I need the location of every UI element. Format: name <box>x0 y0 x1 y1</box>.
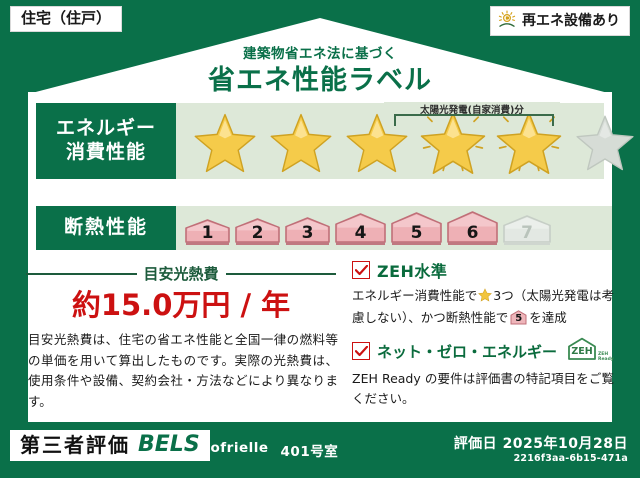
net-zero-energy-block: ネット・ゼロ・エネルギー ZEH ZEH Ready ZEH Ready の要件… <box>352 337 614 409</box>
insulation-performance-row: 断熱性能 1 2 3 <box>36 206 612 250</box>
cost-rule-right <box>226 273 337 275</box>
evaluation-date-value: 2025年10月28日 <box>503 436 628 452</box>
insulation-level-3: 3 <box>284 216 331 246</box>
check-icon <box>355 342 368 361</box>
insulation-level-2: 2 <box>234 217 281 246</box>
sun-icon <box>497 10 517 31</box>
insulation-level-4: 4 <box>334 212 387 246</box>
zeh-house-icon: ZEH <box>567 337 597 365</box>
evaluation-date-label: 評価日 <box>454 436 498 452</box>
energy-performance-key: エネルギー 消費性能 <box>36 103 176 179</box>
insulation-level-number: 2 <box>252 223 264 246</box>
zeh-standard-heading: ZEH水準 <box>352 258 614 282</box>
zeh-standard-text-part3: を達成 <box>529 310 567 325</box>
energy-key-line2: 消費性能 <box>66 141 146 165</box>
energy-key-line1: エネルギー <box>56 117 156 141</box>
insulation-key-label: 断熱性能 <box>64 216 148 240</box>
energy-performance-value: 太陽光発電(自家消費)分 <box>176 103 604 179</box>
evaluation-id: 2216f3aa-6b15-471a <box>514 453 628 464</box>
insulation-level-6: 6 <box>446 210 499 246</box>
insulation-level-number: 7 <box>521 223 533 246</box>
zeh-ready-sublabel: ZEH Ready <box>598 352 614 365</box>
zeh-standard-text: エネルギー消費性能で3つ（太陽光発電は考慮しない）、かつ断熱性能で5を達成 <box>352 286 614 328</box>
energy-star-2 <box>264 106 338 176</box>
third-party-eval-label: 第三者評価 <box>20 435 130 455</box>
building-identifier: Jofrielle 401号室 <box>205 440 338 460</box>
room-number: 401号室 <box>281 440 339 460</box>
utility-cost-heading: 目安光熱費 <box>26 263 336 284</box>
evaluation-date: 評価日 2025年10月28日 <box>454 433 628 453</box>
zeh-standard-block: ZEH水準 エネルギー消費性能で3つ（太陽光発電は考慮しない）、かつ断熱性能で5… <box>352 258 614 328</box>
energy-performance-label: 住宅（住戸） 再エネ設備あり 建築物省エネ法に基づく 省エネ性能ラベル <box>0 0 640 478</box>
zeh-ready-logo: ZEH ZEH Ready <box>567 337 614 365</box>
energy-star-1 <box>188 106 262 176</box>
insulation-level-number: 1 <box>202 223 214 246</box>
net-zero-checkbox[interactable] <box>352 342 370 360</box>
label-footer: 第三者評価 BELS Jofrielle 401号室 評価日 2025年10月2… <box>0 422 640 478</box>
insulation-level-number: 4 <box>355 223 367 246</box>
utility-cost-value: 約15.0万円 / 年 <box>26 282 336 324</box>
energy-performance-row: エネルギー 消費性能 太陽光発電(自家消費)分 <box>36 103 604 179</box>
utility-cost-note: 目安光熱費は、住宅の省エネ性能と全国一律の燃料等の単価を用いて算出したものです。… <box>28 330 338 413</box>
net-zero-title: ネット・ゼロ・エネルギー <box>377 341 557 362</box>
zeh-standard-title: ZEH水準 <box>377 258 447 282</box>
insulation-badge-inline: 5 <box>510 310 527 325</box>
insulation-performance-key: 断熱性能 <box>36 206 176 250</box>
renewable-equipment-badge: 再エネ設備あり <box>490 6 630 36</box>
cost-heading-label: 目安光熱費 <box>144 263 219 284</box>
energy-star-6 <box>568 106 640 176</box>
star-icon <box>478 288 492 308</box>
net-zero-heading: ネット・ゼロ・エネルギー ZEH ZEH Ready <box>352 337 614 365</box>
cost-rule-left <box>26 273 137 275</box>
zeh-column: ZEH水準 エネルギー消費性能で3つ（太陽光発電は考慮しない）、かつ断熱性能で5… <box>352 258 614 418</box>
insulation-performance-value: 1 2 3 4 5 <box>176 206 612 250</box>
insulation-level-scale: 1 2 3 4 5 <box>184 210 552 246</box>
bels-badge: 第三者評価 BELS <box>10 430 210 461</box>
insulation-level-1: 1 <box>184 218 231 246</box>
insulation-level-number: 6 <box>467 223 479 246</box>
zeh-standard-text-part1: エネルギー消費性能で <box>352 288 477 303</box>
renewable-badge-label: 再エネ設備あり <box>522 14 620 28</box>
zeh-standard-checkbox[interactable] <box>352 261 370 279</box>
bels-logo-text: BELS <box>138 434 200 456</box>
insulation-level-7: 7 <box>502 214 552 246</box>
insulation-level-number: 5 <box>411 223 423 246</box>
solar-bracket <box>394 114 554 126</box>
label-title: 省エネ性能ラベル <box>0 58 640 97</box>
net-zero-text: ZEH Ready の要件は評価書の特記項目をご覧ください。 <box>352 369 614 409</box>
insulation-level-5: 5 <box>390 211 443 246</box>
insulation-level-number: 3 <box>302 223 314 246</box>
check-icon <box>355 261 368 280</box>
building-name: Jofrielle <box>205 440 269 460</box>
svg-text:ZEH: ZEH <box>571 346 592 357</box>
housing-type-tag: 住宅（住戸） <box>10 6 122 32</box>
insulation-badge-inline-value: 5 <box>510 310 527 325</box>
zeh-ready-line2: Ready <box>598 357 614 362</box>
